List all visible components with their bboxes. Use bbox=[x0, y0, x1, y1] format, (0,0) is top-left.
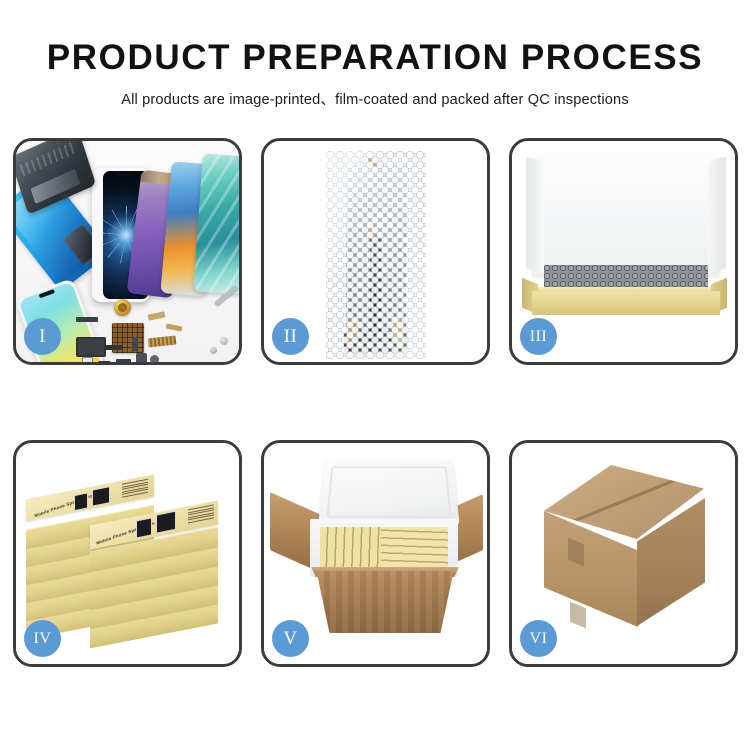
process-step-grid: I II bbox=[13, 138, 737, 667]
connector-bracket-icon bbox=[76, 337, 106, 357]
notch bbox=[116, 172, 134, 176]
step-badge-3: III bbox=[520, 318, 557, 355]
process-step-panel-3[interactable]: III bbox=[509, 138, 738, 365]
camera-module-icon bbox=[98, 361, 111, 362]
page-subtitle: All products are image-printed、film-coat… bbox=[0, 88, 750, 109]
yellow-boxes-icon bbox=[320, 527, 448, 567]
process-step-panel-2[interactable]: II bbox=[261, 138, 490, 365]
flex-cable-icon bbox=[76, 317, 98, 322]
step-badge-4: IV bbox=[24, 620, 61, 657]
phone-window-print bbox=[74, 492, 88, 511]
bubble-wrap-bag-icon bbox=[326, 151, 426, 359]
step-badge-5: V bbox=[272, 620, 309, 657]
antenna-strip-icon bbox=[104, 345, 122, 350]
page-title: PRODUCT PREPARATION PROCESS bbox=[0, 40, 750, 75]
carton-body bbox=[312, 571, 458, 633]
screw-icon bbox=[210, 347, 217, 354]
vibration-motor-icon bbox=[136, 353, 147, 362]
process-step-panel-4[interactable]: Mobile Phone Spare Parts Mobile Phone Sp… bbox=[13, 440, 242, 667]
step-badge-1: I bbox=[24, 318, 61, 355]
phone-window-print bbox=[92, 486, 110, 506]
phone-window-print bbox=[136, 517, 152, 538]
speaker-module-icon bbox=[116, 359, 131, 362]
process-step-panel-1[interactable]: I bbox=[13, 138, 242, 365]
process-step-panel-6[interactable]: VI bbox=[509, 440, 738, 667]
sim-tray-icon bbox=[82, 357, 93, 362]
side-button-icon bbox=[132, 337, 138, 351]
box-edges bbox=[381, 527, 448, 567]
plastic-sheen bbox=[326, 151, 426, 359]
header-block: PRODUCT PREPARATION PROCESS All products… bbox=[0, 0, 750, 109]
step-badge-6: VI bbox=[520, 620, 557, 657]
process-step-panel-5[interactable]: V bbox=[261, 440, 490, 667]
step-badge-2: II bbox=[272, 318, 309, 355]
phone-window-print bbox=[156, 511, 176, 534]
kraft-tray-front bbox=[532, 291, 720, 315]
foam-inner-wall bbox=[544, 193, 708, 275]
gold-coin-part-icon bbox=[114, 299, 131, 316]
white-foam-lid-icon bbox=[318, 460, 459, 525]
screw-icon bbox=[220, 337, 228, 345]
button-cap-icon bbox=[150, 355, 159, 362]
